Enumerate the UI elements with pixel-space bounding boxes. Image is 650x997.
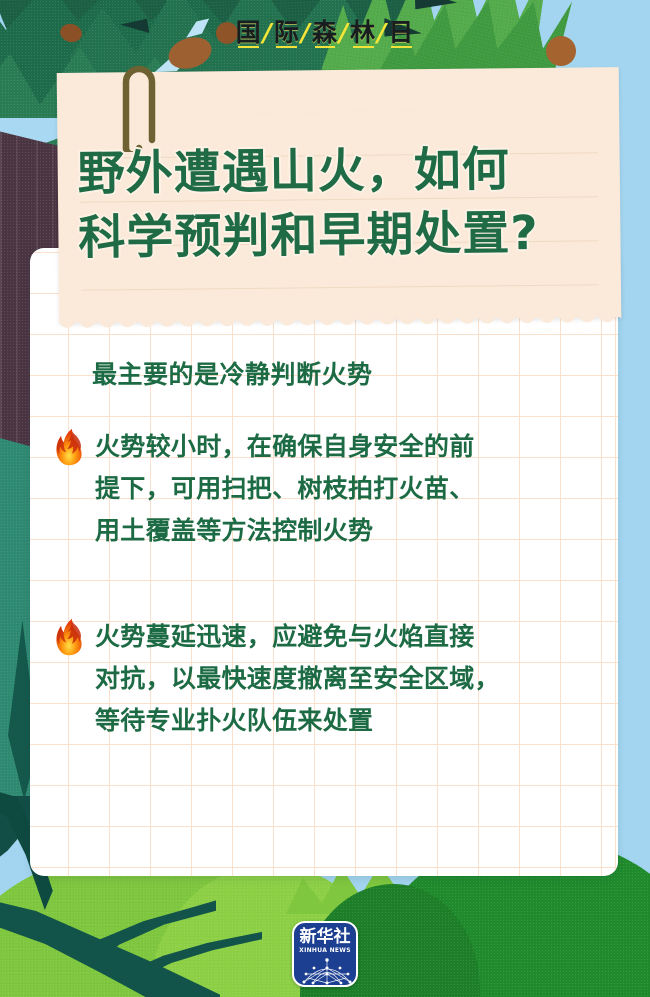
page-title-line-2: 科学预判和早期处置? bbox=[78, 201, 609, 271]
banner-char-4: 林 bbox=[350, 18, 376, 47]
network-globe-icon bbox=[294, 956, 358, 986]
infographic-poster: 国/际/森/林/日 最主要的是冷静判断火势 火势较小时 bbox=[0, 0, 650, 997]
banner-separator: / bbox=[376, 18, 388, 47]
banner-char-2: 际 bbox=[274, 18, 300, 47]
list-item-line: 对抗，以最快速度撤离至安全区域， bbox=[95, 658, 500, 700]
list-item: 火势较小时，在确保自身安全的前 提下，可用扫把、树枝拍打火苗、 用土覆盖等方法控… bbox=[52, 426, 604, 552]
logo-chinese-name: 新华社 bbox=[294, 928, 356, 947]
list-item-text: 火势较小时，在确保自身安全的前 提下，可用扫把、树枝拍打火苗、 用土覆盖等方法控… bbox=[95, 426, 475, 552]
banner-separator: / bbox=[338, 18, 350, 47]
banner-char-5: 日 bbox=[388, 18, 414, 47]
banner-char-3: 森 bbox=[312, 18, 338, 47]
page-title-line-1: 野外遭遇山火，如何 bbox=[77, 142, 510, 202]
list-item-line: 火势较小时，在确保自身安全的前 bbox=[95, 426, 475, 468]
banner-separator: / bbox=[262, 18, 274, 47]
page-title: 野外遭遇山火，如何 科学预判和早期处置? bbox=[77, 137, 608, 271]
branch-icon bbox=[86, 898, 216, 956]
lead-statement: 最主要的是冷静判断火势 bbox=[92, 358, 373, 392]
leaf-tip-icon bbox=[412, 0, 458, 15]
content-card-text: 最主要的是冷静判断火势 火势较小时，在确保自身安全的前 提下，可用扫把、树枝拍打… bbox=[30, 248, 618, 876]
flame-icon bbox=[52, 428, 86, 466]
list-item-line: 用土覆盖等方法控制火势 bbox=[95, 510, 475, 552]
banner-title: 国/际/森/林/日 bbox=[0, 18, 650, 48]
banner-char-1: 国 bbox=[236, 18, 262, 47]
flame-icon bbox=[52, 618, 86, 656]
branch-icon bbox=[132, 930, 262, 976]
branch-icon bbox=[0, 900, 220, 997]
logo-english-name: XINHUA NEWS bbox=[294, 947, 356, 955]
list-item-text: 火势蔓延迅速，应避免与火焰直接 对抗，以最快速度撤离至安全区域， 等待专业扑火队… bbox=[95, 616, 500, 742]
xinhua-news-logo: 新华社 XINHUA NEWS bbox=[292, 921, 358, 987]
list-item: 火势蔓延迅速，应避免与火焰直接 对抗，以最快速度撤离至安全区域， 等待专业扑火队… bbox=[52, 616, 604, 742]
list-item-line: 提下，可用扫把、树枝拍打火苗、 bbox=[95, 468, 475, 510]
banner-separator: / bbox=[300, 18, 312, 47]
list-item-line: 火势蔓延迅速，应避免与火焰直接 bbox=[95, 616, 500, 658]
paperclip-icon bbox=[118, 62, 160, 152]
list-item-line: 等待专业扑火队伍来处置 bbox=[95, 700, 500, 742]
